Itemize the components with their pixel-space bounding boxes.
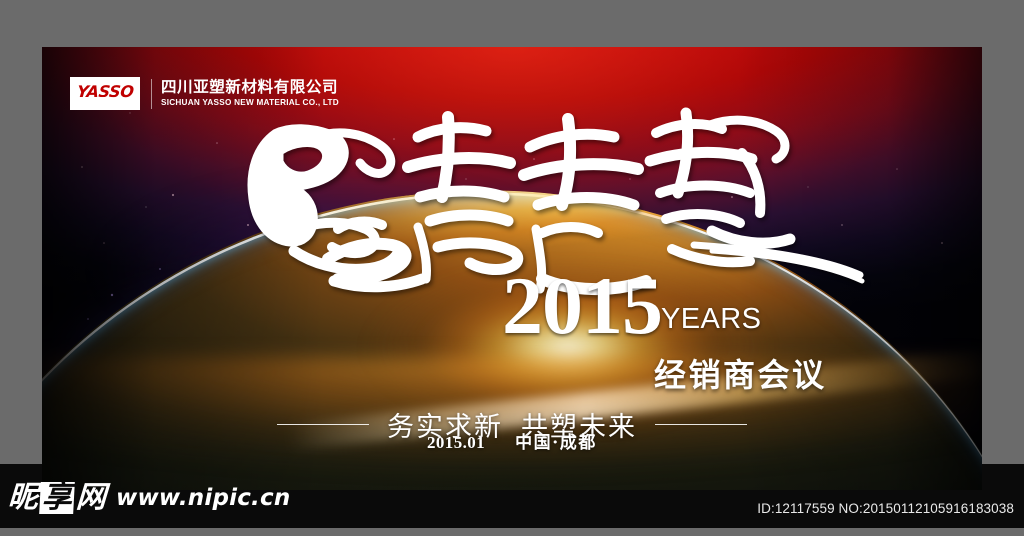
date-city-row: 2015.01 中国·成都 (42, 428, 982, 453)
watermark-brand: 昵 享 网 www.nipic.cn (0, 474, 290, 522)
event-title: 经销商会议 (654, 350, 827, 396)
year-lockup: 2015 YEARS (502, 269, 761, 343)
poster-artwork: YASSO 四川亚塑新材料有限公司 SICHUAN YASSO NEW MATE… (42, 47, 982, 490)
slogan-rule-left (277, 424, 369, 426)
yasso-swoosh-cut-icon (70, 97, 140, 110)
year-word: YEARS (661, 305, 761, 334)
nipic-logo: 昵 享 网 (8, 482, 106, 514)
slogan-rule-right (655, 424, 747, 426)
company-name-en: SICHUAN YASSO NEW MATERIAL CO., LTD (161, 99, 339, 107)
brand-divider (151, 79, 152, 109)
event-city: 中国·成都 (515, 428, 597, 453)
nipic-char-1: 昵 (7, 483, 39, 513)
nipic-url[interactable]: www.nipic.cn (116, 485, 290, 511)
year-number: 2015 (502, 269, 662, 343)
company-name-block: 四川亚塑新材料有限公司 SICHUAN YASSO NEW MATERIAL C… (161, 80, 339, 108)
screenshot-root: 昵 享 网 www.nipic.cn ID:12117559 NO:201501… (0, 0, 1024, 536)
event-date: 2015.01 (427, 433, 485, 453)
watermark-id-text: ID:12117559 NO:20150112105916183038 (757, 501, 1014, 516)
yasso-logo-mark: YASSO (70, 77, 140, 110)
nipic-char-2: 享 (39, 482, 75, 514)
nipic-char-3: 网 (75, 483, 107, 513)
company-brand-lockup: YASSO 四川亚塑新材料有限公司 SICHUAN YASSO NEW MATE… (70, 77, 339, 110)
company-name-cn: 四川亚塑新材料有限公司 (161, 80, 339, 96)
